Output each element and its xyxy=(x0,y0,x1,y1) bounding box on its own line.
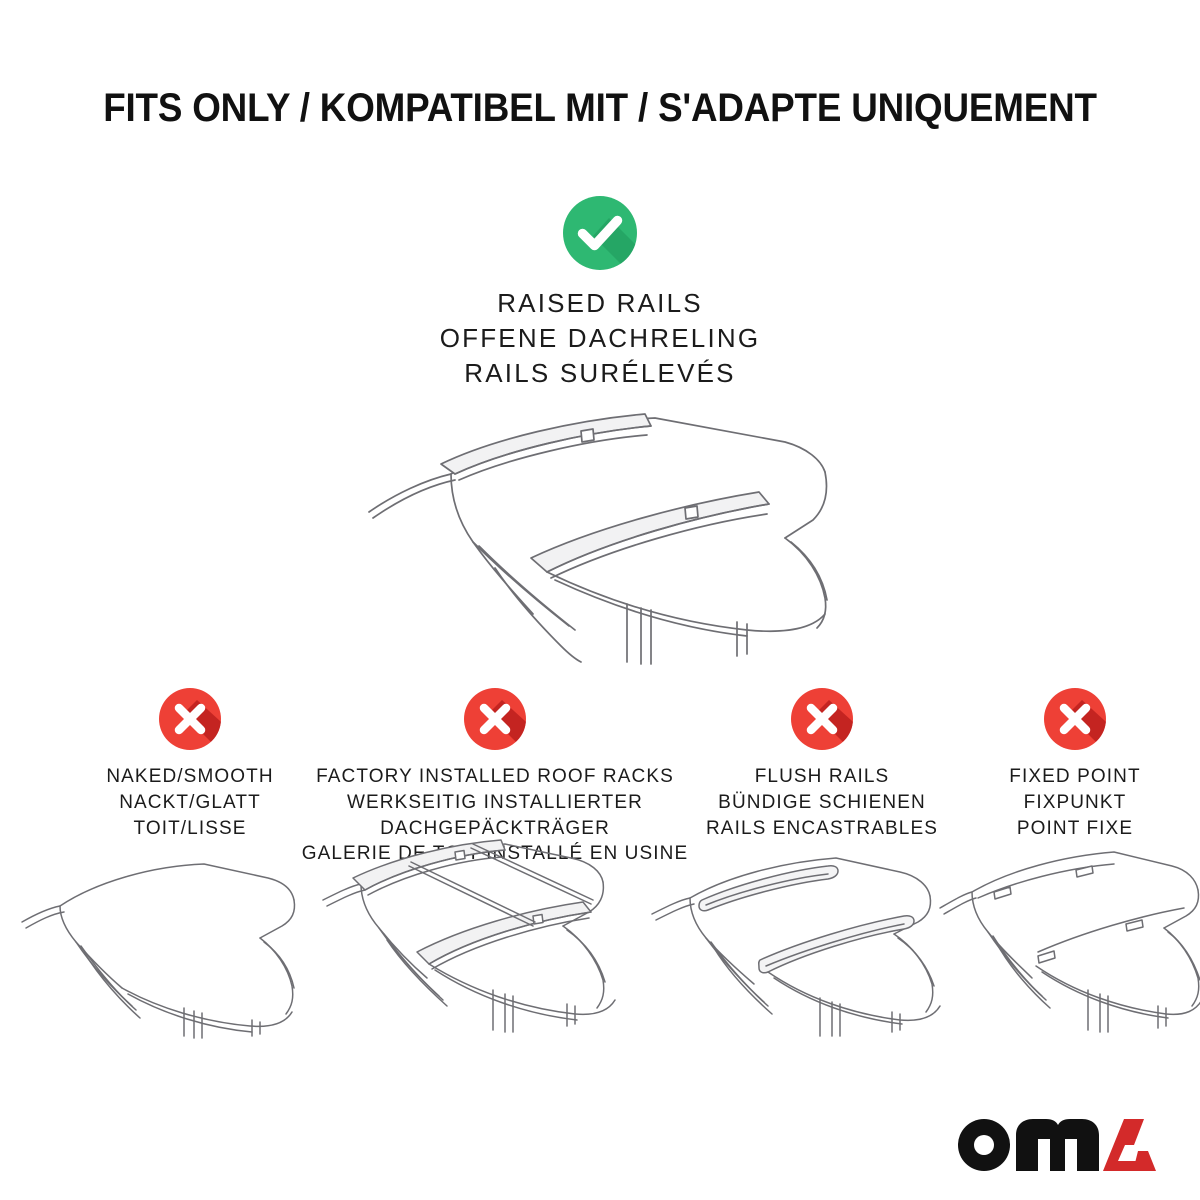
incompatible-caption: NAKED/SMOOTH NACKT/GLATT TOIT/LISSE xyxy=(35,764,345,841)
compatible-caption: RAISED RAILS OFFENE DACHRELING RAILS SUR… xyxy=(0,286,1200,390)
car-roof-flush-rails-illustration xyxy=(648,850,963,1038)
caption-line-1: FIXED POINT xyxy=(955,764,1195,790)
red-x-icon xyxy=(464,688,526,750)
omac-logo xyxy=(958,1118,1158,1172)
logo-letter-m xyxy=(1016,1119,1099,1171)
car-roof-raised-rails-illustration xyxy=(355,408,855,668)
caption-line-1: FLUSH RAILS xyxy=(672,764,972,790)
caption-line-2: BÜNDIGE SCHIENEN xyxy=(672,790,972,816)
incompatible-item-naked-smooth: NAKED/SMOOTH NACKT/GLATT TOIT/LISSE xyxy=(35,688,345,841)
green-check-icon xyxy=(563,196,637,270)
caption-line-3: POINT FIXE xyxy=(955,816,1195,842)
caption-line-2: NACKT/GLATT xyxy=(35,790,345,816)
car-roof-fixed-point-illustration xyxy=(938,848,1200,1038)
logo-letter-o xyxy=(958,1119,1010,1171)
caption-line-2: WERKSEITIG INSTALLIERTER xyxy=(300,790,690,816)
red-x-icon xyxy=(1044,688,1106,750)
incompatible-caption: FIXED POINT FIXPUNKT POINT FIXE xyxy=(955,764,1195,841)
caption-line-1: NAKED/SMOOTH xyxy=(35,764,345,790)
caption-line-1: FACTORY INSTALLED ROOF RACKS xyxy=(300,764,690,790)
caption-line-3: RAILS ENCASTRABLES xyxy=(672,816,972,842)
compatible-section: RAISED RAILS OFFENE DACHRELING RAILS SUR… xyxy=(0,196,1200,390)
red-x-icon xyxy=(791,688,853,750)
caption-line-3: TOIT/LISSE xyxy=(35,816,345,842)
car-roof-naked-smooth-illustration xyxy=(18,856,318,1041)
incompatible-caption: FLUSH RAILS BÜNDIGE SCHIENEN RAILS ENCAS… xyxy=(672,764,972,841)
incompatible-item-fixed-point: FIXED POINT FIXPUNKT POINT FIXE xyxy=(955,688,1195,841)
caption-line-2: FIXPUNKT xyxy=(955,790,1195,816)
compatible-line-2: OFFENE DACHRELING xyxy=(0,321,1200,356)
logo-letter-a xyxy=(1103,1119,1156,1171)
page-title: FITS ONLY / KOMPATIBEL MIT / S'ADAPTE UN… xyxy=(103,88,1097,128)
compatible-line-3: RAILS SURÉLEVÉS xyxy=(0,356,1200,391)
compatible-line-1: RAISED RAILS xyxy=(0,286,1200,321)
incompatible-item-flush-rails: FLUSH RAILS BÜNDIGE SCHIENEN RAILS ENCAS… xyxy=(672,688,972,841)
red-x-icon xyxy=(159,688,221,750)
page-title-bar: FITS ONLY / KOMPATIBEL MIT / S'ADAPTE UN… xyxy=(0,88,1200,128)
car-roof-factory-racks-illustration xyxy=(305,838,660,1038)
